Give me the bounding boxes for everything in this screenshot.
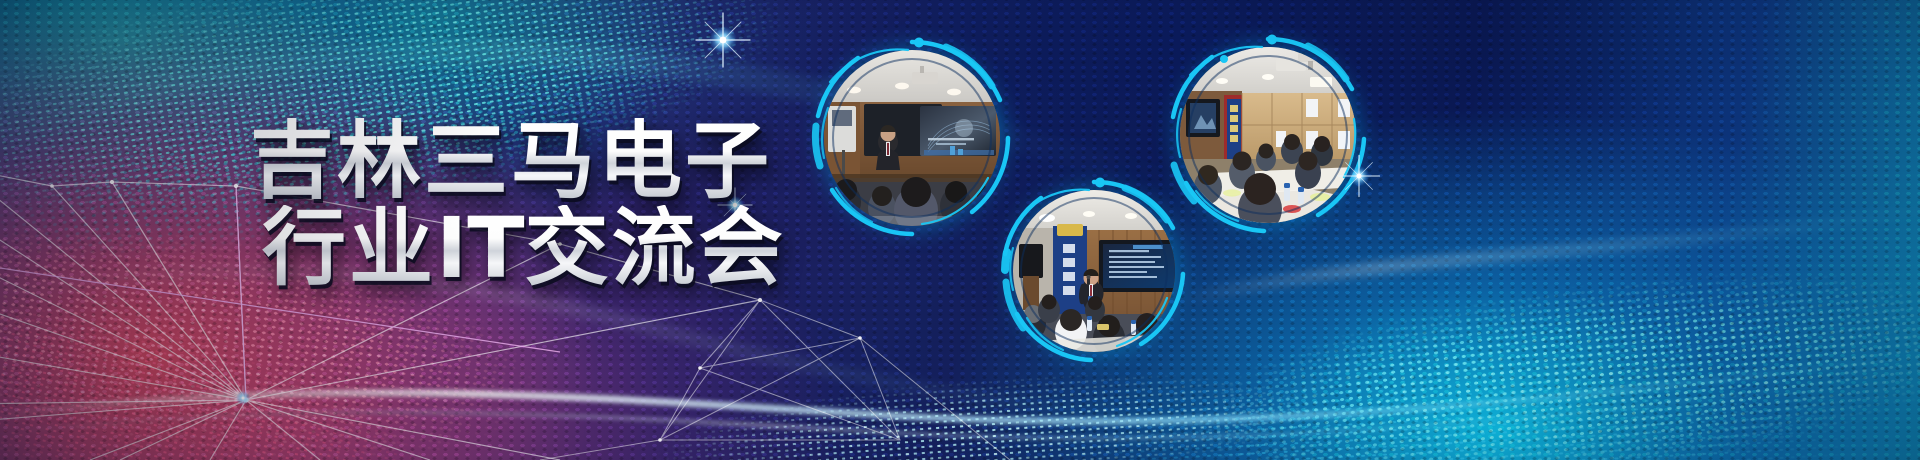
event-banner: 吉林三马电子 行业IT交流会 bbox=[0, 0, 1920, 460]
photo-circle-speaker bbox=[1001, 178, 1187, 364]
headline-line-1: 吉林三马电子 bbox=[250, 118, 850, 205]
headline-line-2: 行业IT交流会 bbox=[250, 205, 850, 292]
photo-circle-boardroom bbox=[1168, 35, 1368, 235]
headline-line-2-prefix: 行业 bbox=[262, 199, 436, 297]
photo-ring-boardroom bbox=[1168, 35, 1368, 235]
photo-ring-speaker bbox=[1001, 178, 1187, 364]
headline-block: 吉林三马电子 行业IT交流会 bbox=[250, 118, 850, 293]
headline-line-2-it: IT bbox=[436, 199, 525, 297]
headline-line-2-suffix: 交流会 bbox=[525, 199, 786, 297]
